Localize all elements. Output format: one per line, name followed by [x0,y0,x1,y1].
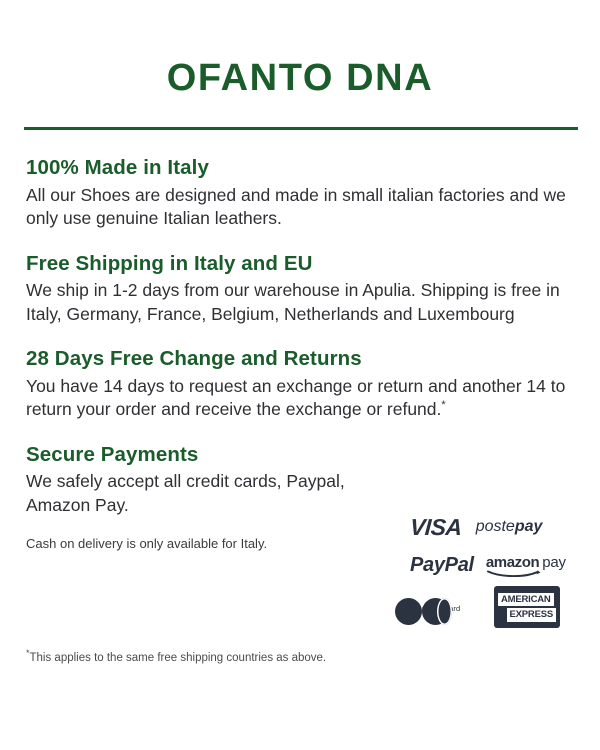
title-divider [24,127,578,130]
section-body-secure-payments: We safely accept all credit cards, Paypa… [26,470,386,517]
section-heading-made-in-italy: 100% Made in Italy [26,155,574,181]
section-heading-change-and-returns: 28 Days Free Change and Returns [26,346,574,372]
footnote: *This applies to the same free shipping … [26,651,326,666]
returns-body-text: You have 14 days to request an exchange … [26,376,565,419]
postepay-icon-text-light: poste [476,518,515,535]
mastercard-icon: mastercard [410,598,472,616]
amex-icon-line-2: EXPRESS [507,608,556,622]
payment-logo-row-2: PayPal amazonpay [410,546,588,584]
section-body-free-shipping: We ship in 1-2 days from our warehouse i… [26,279,566,326]
amazon-pay-icon: amazonpay [486,555,566,576]
visa-icon: VISA [409,516,462,539]
section-body-made-in-italy: All our Shoes are designed and made in s… [26,184,566,231]
ofanto-dna-panel: OFANTO DNA 100% Made in Italy All our Sh… [0,0,600,750]
postepay-icon-text-bold: pay [515,518,543,535]
section-free-shipping: Free Shipping in Italy and EU We ship in… [26,251,574,327]
sections-container: 100% Made in Italy All our Shoes are des… [26,155,574,553]
postepay-icon: postepay [476,519,543,535]
section-made-in-italy: 100% Made in Italy All our Shoes are des… [26,155,574,231]
section-heading-free-shipping: Free Shipping in Italy and EU [26,251,574,277]
american-express-icon: AMERICAN EXPRESS [494,586,560,628]
amazon-pay-icon-amazon: amazon [486,554,539,571]
footnote-text: This applies to the same free shipping c… [30,652,327,664]
mastercard-circle-overlap [437,598,452,625]
amazon-pay-icon-pay: pay [542,554,566,571]
section-change-and-returns: 28 Days Free Change and Returns You have… [26,346,574,422]
payment-logos: VISA postepay PayPal amazonpay mastercar… [410,508,588,630]
amex-icon-line-1: AMERICAN [498,593,554,607]
mastercard-circle-right [395,598,422,625]
paypal-icon: PayPal [410,555,474,575]
payment-logo-row-3: mastercard AMERICAN EXPRESS [410,584,588,630]
section-heading-secure-payments: Secure Payments [26,442,574,468]
payment-logo-row-1: VISA postepay [410,508,588,546]
page-title: OFANTO DNA [0,0,600,100]
amazon-smile-arrow-icon [487,570,541,577]
returns-asterisk: * [441,399,445,411]
section-body-change-and-returns: You have 14 days to request an exchange … [26,375,566,422]
